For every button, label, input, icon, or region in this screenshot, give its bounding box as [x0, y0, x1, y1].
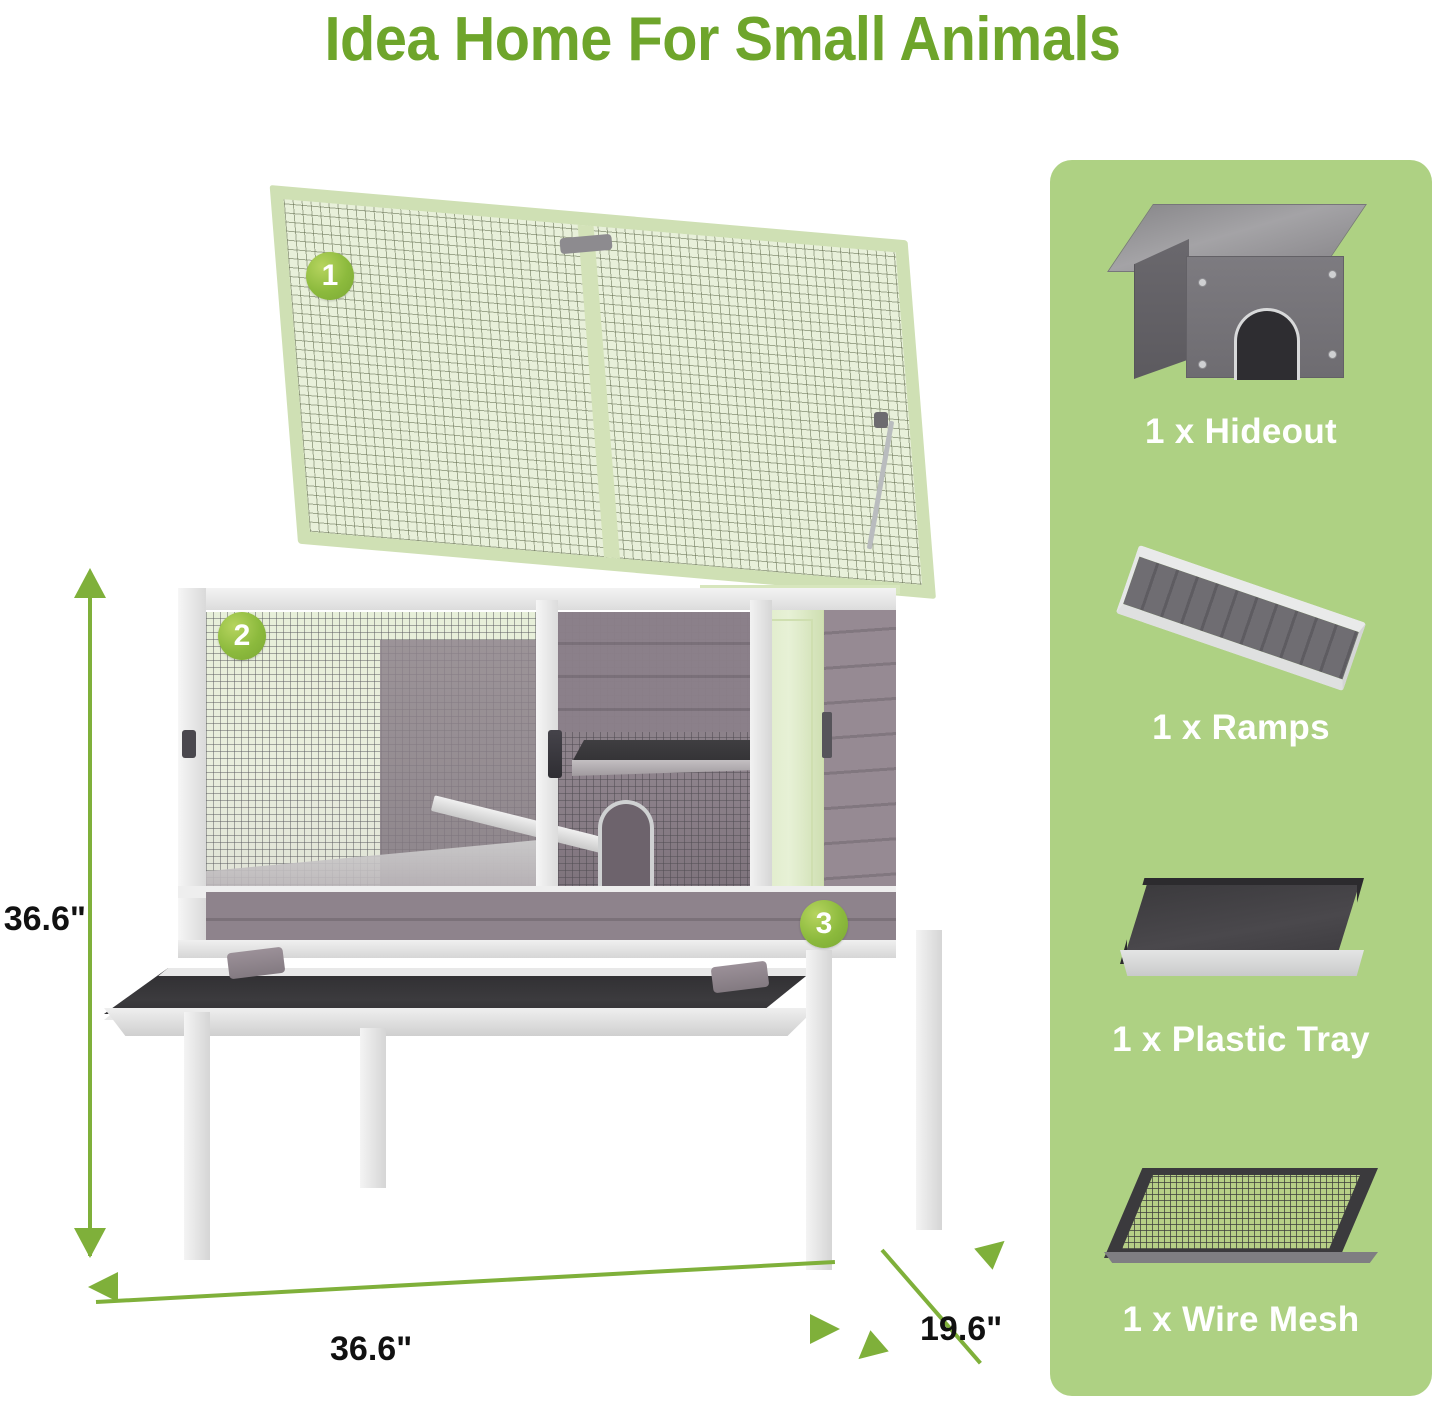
upper-siding-panel — [558, 612, 750, 732]
height-line — [88, 572, 92, 1256]
leg-rear-left — [360, 1028, 386, 1188]
arrow-down-icon — [74, 1228, 106, 1258]
door-hinge-icon — [822, 712, 832, 758]
ramp-icon — [1050, 564, 1432, 694]
depth-label: 19.6" — [920, 1310, 1002, 1349]
accessory-item-wire-mesh: 1 x Wire Mesh — [1050, 1168, 1432, 1340]
accessory-item-hideout: 1 x Hideout — [1050, 204, 1432, 452]
accessory-item-plastic-tray: 1 x Plastic Tray — [1050, 878, 1432, 1060]
height-label: 36.6" — [0, 900, 86, 939]
accessory-label-hideout: 1 x Hideout — [1050, 412, 1432, 452]
wire-mesh-icon — [1050, 1168, 1432, 1274]
arrow-left-icon — [88, 1272, 118, 1302]
accessory-item-ramps: 1 x Ramps — [1050, 564, 1432, 748]
leg-front-left — [184, 1012, 210, 1260]
tray-front-lip — [104, 1008, 816, 1036]
leg-front-right — [806, 950, 832, 1270]
hideout-arch-opening — [598, 800, 654, 896]
pull-out-tray[interactable] — [104, 968, 816, 1036]
leg-rear-right — [916, 930, 942, 1230]
accessory-label-ramps: 1 x Ramps — [1050, 708, 1432, 748]
infographic-root: Idea Home For Small Animals — [0, 0, 1445, 1404]
interior-shelf — [572, 740, 772, 762]
callout-badge-3: 3 — [800, 900, 848, 948]
callout-badge-1: 1 — [306, 252, 354, 300]
door-latch-icon[interactable] — [548, 730, 562, 778]
width-label: 36.6" — [330, 1330, 412, 1369]
door-panel-inset — [769, 619, 813, 913]
product-illustration: 1 2 3 — [0, 0, 1040, 1404]
plastic-tray-icon — [1050, 878, 1432, 998]
left-hinge-icon — [182, 730, 196, 758]
lid-rod-clip-icon — [874, 412, 888, 428]
accessories-panel: 1 x Hideout 1 x Ramps 1 x Plastic Tray — [1050, 160, 1432, 1396]
hideout-icon — [1050, 204, 1432, 394]
accessory-label-plastic-tray: 1 x Plastic Tray — [1050, 1020, 1432, 1060]
accessory-label-wire-mesh: 1 x Wire Mesh — [1050, 1300, 1432, 1340]
lower-rail-bottom — [178, 940, 896, 958]
callout-badge-2: 2 — [218, 612, 266, 660]
arrow-right-icon — [810, 1314, 840, 1344]
